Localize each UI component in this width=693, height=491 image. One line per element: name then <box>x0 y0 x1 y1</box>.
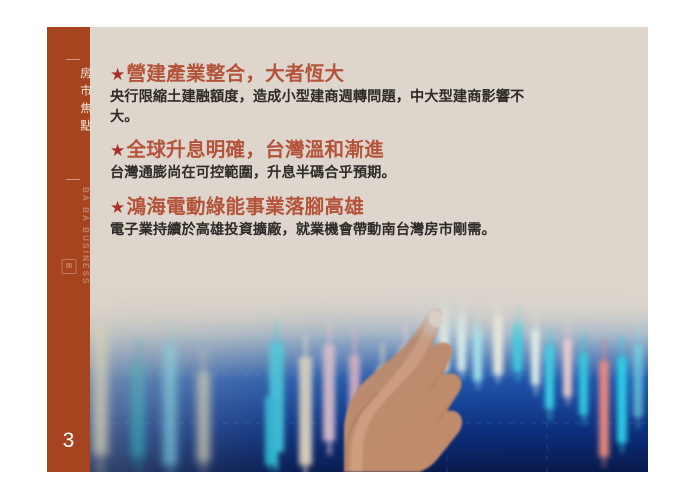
rail-divider-mid <box>66 179 80 180</box>
news-item: ★ 營建產業整合，大者恆大 央行限縮土建融額度，造成小型建商週轉問題，中大型建商… <box>110 63 640 127</box>
news-list: ★ 營建產業整合，大者恆大 央行限縮土建融額度，造成小型建商週轉問題，中大型建商… <box>110 63 640 240</box>
news-headline-text: 全球升息明確，台灣溫和漸進 <box>127 139 384 162</box>
star-bullet-icon: ★ <box>110 66 126 83</box>
page-number: 3 <box>47 430 90 451</box>
slide-frame: 房市焦點 BA BA BUSINESS 88 3 ★ 營建產業整合，大者恆大 央… <box>47 27 648 472</box>
news-headline: ★ 營建產業整合，大者恆大 <box>110 63 640 86</box>
sidebar-rail: 房市焦點 BA BA BUSINESS 88 3 <box>47 27 90 472</box>
news-body-text: 電子業持續於高雄投資擴廠，就業機會帶動南台灣房市剛需。 <box>110 221 630 241</box>
news-headline: ★ 全球升息明確，台灣溫和漸進 <box>110 139 640 162</box>
news-headline: ★ 鴻海電動綠能事業落腳高雄 <box>110 196 640 219</box>
news-headline-text: 鴻海電動綠能事業落腳高雄 <box>127 196 365 219</box>
news-item: ★ 鴻海電動綠能事業落腳高雄 電子業持續於高雄投資擴廠，就業機會帶動南台灣房市剛… <box>110 196 640 241</box>
news-item: ★ 全球升息明確，台灣溫和漸進 台灣通膨尚在可控範圍，升息半碼合乎預期。 <box>110 139 640 184</box>
news-body-text: 央行限縮土建融額度，造成小型建商週轉問題，中大型建商影響不大。 <box>110 88 530 127</box>
rail-section-title: 房市焦點 <box>47 67 90 137</box>
news-body-text: 台灣通膨尚在可控範圍，升息半碼合乎預期。 <box>110 164 530 184</box>
news-headline-text: 營建產業整合，大者恆大 <box>127 63 345 86</box>
rail-divider-top <box>66 59 80 60</box>
star-bullet-icon: ★ <box>110 199 126 216</box>
brand-logo-icon: 88 <box>61 259 76 274</box>
slide-content: ★ 營建產業整合，大者恆大 央行限縮土建融額度，造成小型建商週轉問題，中大型建商… <box>90 27 648 472</box>
star-bullet-icon: ★ <box>110 142 126 159</box>
